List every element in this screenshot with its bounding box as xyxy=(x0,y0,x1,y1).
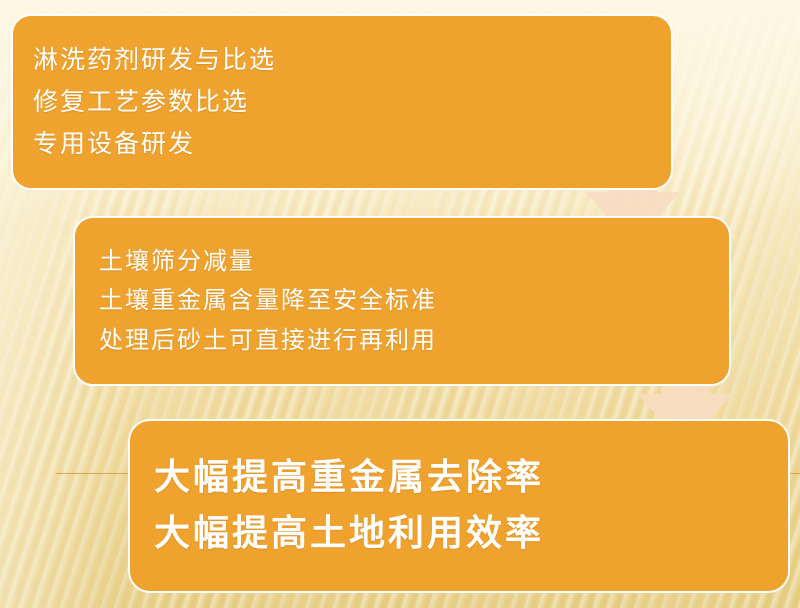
slide-canvas: 淋洗药剂研发与比选 修复工艺参数比选 专用设备研发 土壤筛分减量 土壤重金属含量… xyxy=(0,0,800,608)
outcome-line-1: 土壤筛分减量 xyxy=(99,249,729,274)
benefit-line-2: 大幅提高土地利用效率 xyxy=(154,515,788,553)
research-line-2: 修复工艺参数比选 xyxy=(33,89,671,115)
benefit-lines: 大幅提高重金属去除率 大幅提高土地利用效率 xyxy=(154,459,788,553)
benefit-line-1: 大幅提高重金属去除率 xyxy=(154,459,788,497)
research-line-1: 淋洗药剂研发与比选 xyxy=(33,47,671,73)
outcome-line-2: 土壤重金属含量降至安全标准 xyxy=(99,288,729,313)
outcome-box: 土壤筛分减量 土壤重金属含量降至安全标准 处理后砂土可直接进行再利用 xyxy=(73,216,731,386)
outcome-line-3: 处理后砂土可直接进行再利用 xyxy=(99,328,729,353)
connector-rule-left xyxy=(56,473,132,474)
benefit-box: 大幅提高重金属去除率 大幅提高土地利用效率 xyxy=(128,419,790,593)
research-line-3: 专用设备研发 xyxy=(33,131,671,157)
research-box: 淋洗药剂研发与比选 修复工艺参数比选 专用设备研发 xyxy=(11,14,673,190)
